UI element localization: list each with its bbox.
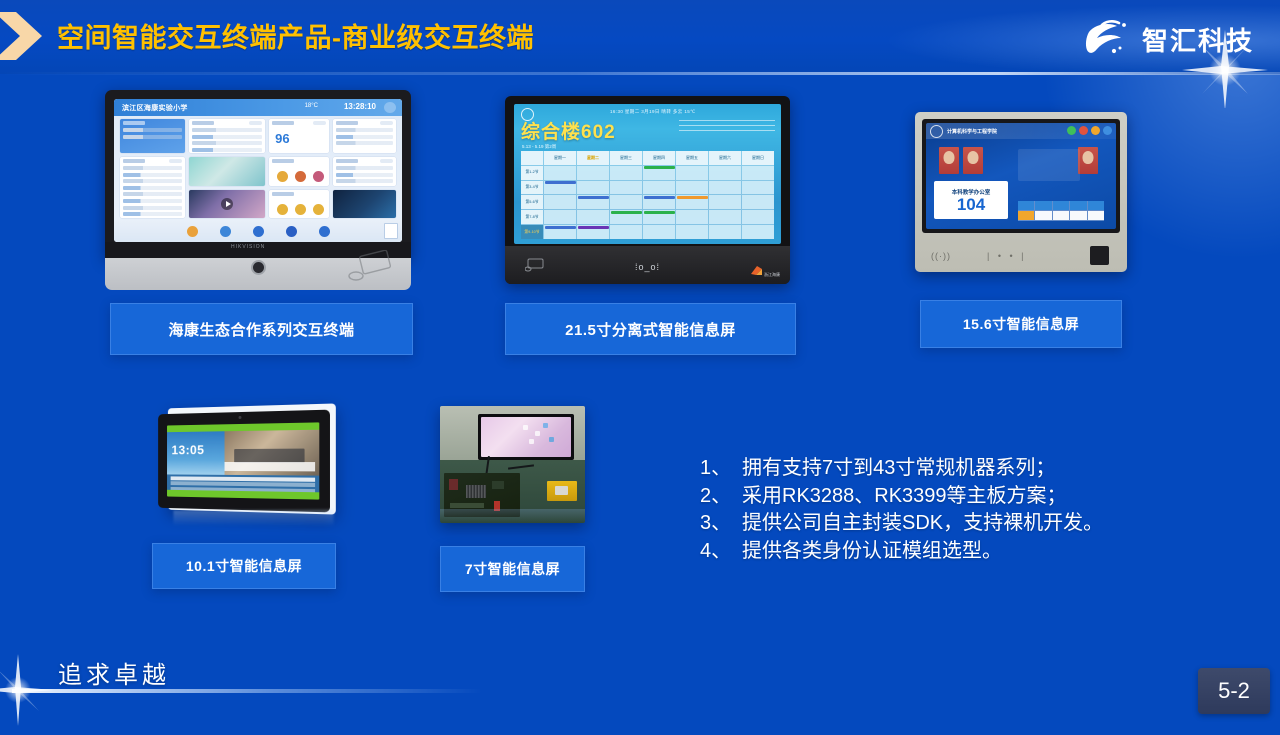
card-line — [192, 141, 262, 145]
list-item-text: 拥有支持7寸到43寸常规机器系列； — [742, 455, 1055, 483]
card-line — [123, 192, 182, 196]
d3-topbar: 计算机科学与工程学院 — [926, 123, 1116, 139]
list-item-text: 提供各类身份认证模组选型。 — [742, 538, 1002, 566]
medal-icon — [277, 171, 288, 182]
grid-day-header: 星期一 — [544, 151, 576, 165]
grid-cell — [643, 210, 675, 224]
medal-icon — [313, 171, 324, 182]
card-news — [333, 157, 396, 186]
device-split-21-5: 16:30 星期二 3月19日 晴转 多云 15℃ 综合楼602 5.13 - … — [505, 96, 790, 284]
card-line — [336, 141, 393, 145]
grid-cell — [709, 195, 741, 209]
footer-slogan: 追求卓越 — [58, 655, 170, 690]
card-more-pill — [380, 159, 393, 163]
card-lines — [192, 128, 262, 151]
card-title-bar — [123, 159, 145, 163]
card-line — [192, 135, 262, 139]
card-title-bar — [192, 121, 214, 125]
card-more-pill — [169, 159, 182, 163]
card-more-pill — [313, 121, 326, 125]
grid-cell — [643, 181, 675, 195]
card-photo-keyboard — [189, 157, 265, 186]
list-item: 1、 拥有支持7寸到43寸常规机器系列； — [700, 455, 1200, 483]
indicator-lights: | • • | — [987, 251, 1026, 261]
app-icon — [535, 431, 540, 436]
college-seal-icon — [930, 125, 943, 138]
grid-day-header: 星期二 — [577, 151, 609, 165]
card-personal-honors — [269, 190, 329, 219]
course-event — [644, 166, 675, 169]
logo-text: 智汇科技 — [1142, 21, 1254, 58]
grid-cell — [676, 166, 708, 180]
d3-status-table — [1018, 201, 1104, 221]
aio-screen: 滨江区海康实验小学 18°C 13:28:10 — [114, 99, 402, 242]
card-line — [123, 179, 182, 183]
d2-brand-text: 浙江海康 — [764, 272, 780, 277]
feature-list: 1、 拥有支持7寸到43寸常规机器系列； 2、 采用RK3288、RK3399等… — [700, 455, 1200, 565]
course-event — [644, 211, 675, 214]
d5-reflection — [440, 509, 585, 523]
brand-kite-icon — [750, 272, 764, 277]
card-timetable — [120, 157, 185, 218]
week-range: 5.13 - 5.19 第2周 — [522, 144, 556, 150]
grid-period-label: 第3-4节 — [521, 181, 543, 195]
medal-icon — [295, 204, 306, 215]
grid-day-header: 星期日 — [742, 151, 774, 165]
card-line — [336, 135, 393, 139]
card-reader-icon[interactable] — [525, 258, 545, 272]
course-event — [545, 181, 576, 184]
sensor-indicator: ⁞o_o⁞ — [635, 262, 660, 272]
app-icon — [549, 437, 554, 442]
d2-control-bar: ⁞o_o⁞ 浙江海康 — [505, 246, 790, 284]
card-lines — [123, 166, 182, 216]
room-number: 104 — [957, 196, 985, 213]
timetable-datebar: 16:30 星期二 3月19日 晴转 多云 15℃ — [610, 109, 696, 115]
grid-cell — [610, 195, 642, 209]
grid-cell — [544, 210, 576, 224]
table-cell — [1018, 211, 1034, 220]
card-line — [336, 166, 393, 170]
play-icon[interactable] — [221, 198, 233, 210]
d3-screen: 计算机科学与工程学院 本科教学办公室 104 — [926, 123, 1116, 229]
grid-cell — [577, 195, 609, 209]
grid-cell — [643, 166, 675, 180]
school-ui-dock — [114, 220, 402, 242]
device-info-10-1: 13:05 — [152, 406, 336, 528]
dock-icon-home[interactable] — [187, 226, 198, 237]
d5-photo-scene — [440, 406, 585, 523]
caption-info-10-1: 10.1寸智能信息屏 — [152, 543, 336, 589]
list-item: 3、 提供公司自主封装SDK，支持裸机开发。 — [700, 510, 1200, 538]
grid-cell — [676, 210, 708, 224]
grid-cell — [676, 181, 708, 195]
grid-period-label: 第1-2节 — [521, 166, 543, 180]
action-icon-green[interactable] — [1067, 126, 1076, 135]
table-header-cell — [1088, 201, 1104, 210]
qr-code-icon — [384, 223, 398, 239]
camera-icon — [239, 416, 242, 419]
grid-period-label: 第7-8节 — [521, 210, 543, 224]
grid-day-header: 星期六 — [709, 151, 741, 165]
avatar-icon — [384, 102, 396, 113]
grid-cell — [610, 181, 642, 195]
slide-header: 空间智能交互终端产品-商业级交互终端 智汇科技 — [0, 0, 1280, 74]
card-line — [123, 186, 182, 190]
grid-cell — [544, 166, 576, 180]
school-terminal-ui: 滨江区海康实验小学 18°C 13:28:10 — [114, 99, 402, 242]
brand-mark-icon — [1079, 18, 1133, 60]
aio-brand-text: HIKVISION — [231, 244, 265, 250]
card-score: 96 — [269, 119, 329, 153]
course-event — [644, 196, 675, 199]
card-line — [192, 148, 262, 152]
table-cell — [1035, 211, 1051, 220]
action-icon-red[interactable] — [1079, 126, 1088, 135]
clock-readout: 13:28:10 — [344, 102, 376, 111]
card-title-bar — [336, 121, 358, 125]
status-bar-bottom — [167, 490, 319, 500]
dock-icon-messages[interactable] — [220, 226, 231, 237]
d4-bezel: 13:05 — [158, 410, 330, 513]
dock-icon-courses[interactable] — [253, 226, 264, 237]
medal-icon — [295, 171, 306, 182]
staff-photo — [963, 147, 983, 174]
grid-cell — [643, 225, 675, 239]
weather-readout: 18°C — [305, 103, 318, 109]
meeting-status-strip — [225, 462, 316, 471]
grid-corner — [521, 151, 543, 165]
course-event — [611, 211, 642, 214]
caption-hikvision-aio: 海康生态合作系列交互终端 — [110, 303, 413, 355]
grid-cell — [610, 225, 642, 239]
card-announcements — [333, 119, 396, 153]
card-title-bar — [272, 121, 294, 125]
school-name: 滨江区海康实验小学 — [122, 103, 188, 113]
medal-icon — [313, 204, 324, 215]
timetable-note-lines — [679, 120, 775, 132]
course-event — [677, 196, 708, 199]
action-icon-orange[interactable] — [1091, 126, 1100, 135]
card-lines — [336, 128, 393, 151]
card-line — [336, 179, 393, 183]
table-header-cell — [1070, 201, 1086, 210]
grid-period-label: 第9-10节 — [521, 225, 543, 239]
speaker-icon: ((·)) — [931, 251, 951, 261]
grid-cell — [610, 166, 642, 180]
score-value: 96 — [275, 131, 289, 146]
card-line — [123, 166, 182, 170]
page-title: 空间智能交互终端产品-商业级交互终端 — [57, 16, 534, 55]
medal-icon — [277, 204, 288, 215]
card-line — [123, 212, 182, 216]
d3-right-panel — [1018, 143, 1111, 223]
device-info-15-6: 计算机科学与工程学院 本科教学办公室 104 — [915, 112, 1127, 272]
d3-placeholder-block — [1018, 149, 1080, 181]
card-title-bar — [123, 121, 145, 125]
card-line — [123, 173, 182, 177]
chevron-right-icon — [0, 8, 52, 64]
pcb-component — [449, 479, 458, 490]
app-icon — [529, 439, 534, 444]
dock-icon-profile[interactable] — [319, 226, 330, 237]
table-cell — [1053, 211, 1069, 220]
page-number-badge: 5-2 — [1198, 668, 1270, 714]
grid-day-header: 星期三 — [610, 151, 642, 165]
action-icon-blue[interactable] — [1103, 126, 1112, 135]
company-logo: 智汇科技 — [1079, 16, 1254, 62]
device-info-7 — [440, 406, 585, 523]
table-cell — [1070, 211, 1086, 220]
clock-readout: 13:05 — [172, 442, 205, 457]
d2-screen: 16:30 星期二 3月19日 晴转 多云 15℃ 综合楼602 5.13 - … — [514, 104, 781, 244]
app-icon — [523, 425, 528, 430]
grid-cell — [577, 225, 609, 239]
heatsink — [466, 485, 486, 498]
card-title-bar — [272, 159, 294, 163]
table-header-cell — [1053, 201, 1069, 210]
grid-cell — [676, 225, 708, 239]
card-reader-module[interactable] — [1090, 246, 1109, 265]
list-item-index: 1、 — [700, 455, 742, 483]
card-line — [123, 135, 182, 139]
card-line — [123, 206, 182, 210]
grid-day-header: 星期四 — [643, 151, 675, 165]
grid-cell — [709, 210, 741, 224]
caption-info-15-6: 15.6寸智能信息屏 — [920, 300, 1122, 348]
ribbon-cable — [508, 464, 534, 469]
dock-icon-activity[interactable] — [286, 226, 297, 237]
timetable-grid: 星期一 星期二 星期三 星期四 星期五 星期六 星期日 第1-2节 第3-4节 — [521, 151, 774, 239]
card-title-bar — [272, 192, 294, 196]
app-icon — [543, 423, 548, 428]
card-more-pill — [380, 121, 393, 125]
grid-cell — [544, 195, 576, 209]
card-class-banner — [120, 119, 185, 153]
card-photo-video — [189, 190, 265, 219]
grid-cell — [577, 181, 609, 195]
grid-cell — [676, 195, 708, 209]
course-event — [545, 226, 576, 229]
list-item-text: 采用RK3288、RK3399等主板方案； — [742, 483, 1067, 511]
nfc-card-icon — [347, 250, 395, 284]
id-reader-module — [547, 481, 577, 501]
d5-lcd-screen — [481, 417, 571, 457]
school-ui-grid: 96 — [120, 119, 396, 218]
grid-period-label: 第5-6节 — [521, 195, 543, 209]
pcb-component — [492, 481, 504, 489]
slide-root: 空间智能交互终端产品-商业级交互终端 智汇科技 — [0, 0, 1280, 720]
college-name: 计算机科学与工程学院 — [947, 128, 997, 135]
list-item-index: 3、 — [700, 510, 742, 538]
camera-icon — [253, 262, 264, 273]
card-line — [123, 199, 182, 203]
list-item-text: 提供公司自主封装SDK，支持裸机开发。 — [742, 510, 1103, 538]
grid-cell — [709, 225, 741, 239]
card-title-bar — [336, 159, 358, 163]
list-item: 4、 提供各类身份认证模组选型。 — [700, 538, 1200, 566]
card-awards — [269, 157, 329, 186]
grid-day-header: 星期五 — [676, 151, 708, 165]
list-item: 2、 采用RK3288、RK3399等主板方案； — [700, 483, 1200, 511]
grid-cell — [742, 181, 774, 195]
clock-panel: 13:05 — [167, 431, 224, 475]
card-notice-list — [189, 119, 265, 153]
d4-reflection — [173, 510, 333, 527]
pcb-connector — [450, 503, 484, 508]
card-line — [192, 128, 262, 132]
caption-split-21-5: 21.5寸分离式智能信息屏 — [505, 303, 796, 355]
grid-cell — [544, 225, 576, 239]
card-more-pill — [249, 121, 262, 125]
grid-cell — [643, 195, 675, 209]
grid-cell — [610, 210, 642, 224]
d4-screen: 13:05 — [167, 422, 319, 499]
list-item-index: 4、 — [700, 538, 742, 566]
grid-cell — [742, 195, 774, 209]
card-photo-lab — [333, 190, 396, 219]
table-cell — [1088, 211, 1104, 220]
course-event — [578, 196, 609, 199]
room-plate: 本科教学办公室 104 — [934, 181, 1008, 219]
room-title: 综合楼602 — [521, 117, 616, 144]
grid-cell — [742, 166, 774, 180]
header-divider — [0, 72, 1280, 75]
d3-quick-actions — [1067, 126, 1112, 135]
grid-cell — [742, 210, 774, 224]
card-line — [123, 128, 182, 132]
card-line — [336, 128, 393, 132]
staff-photo — [939, 147, 959, 174]
card-lines — [336, 166, 393, 184]
grid-cell — [544, 181, 576, 195]
school-ui-topbar: 滨江区海康实验小学 18°C 13:28:10 — [114, 99, 402, 116]
grid-cell — [709, 166, 741, 180]
card-lines — [123, 128, 182, 151]
d2-brand: 浙江海康 — [750, 265, 780, 278]
caption-info-7: 7寸智能信息屏 — [440, 546, 585, 592]
grid-cell — [577, 210, 609, 224]
grid-cell — [709, 181, 741, 195]
course-event — [578, 226, 609, 229]
table-header-cell — [1018, 201, 1034, 210]
table-header-cell — [1035, 201, 1051, 210]
card-line — [336, 173, 393, 177]
list-item-index: 2、 — [700, 483, 742, 511]
device-hikvision-aio: 滨江区海康实验小学 18°C 13:28:10 — [105, 90, 411, 290]
grid-cell — [577, 166, 609, 180]
grid-cell — [742, 225, 774, 239]
